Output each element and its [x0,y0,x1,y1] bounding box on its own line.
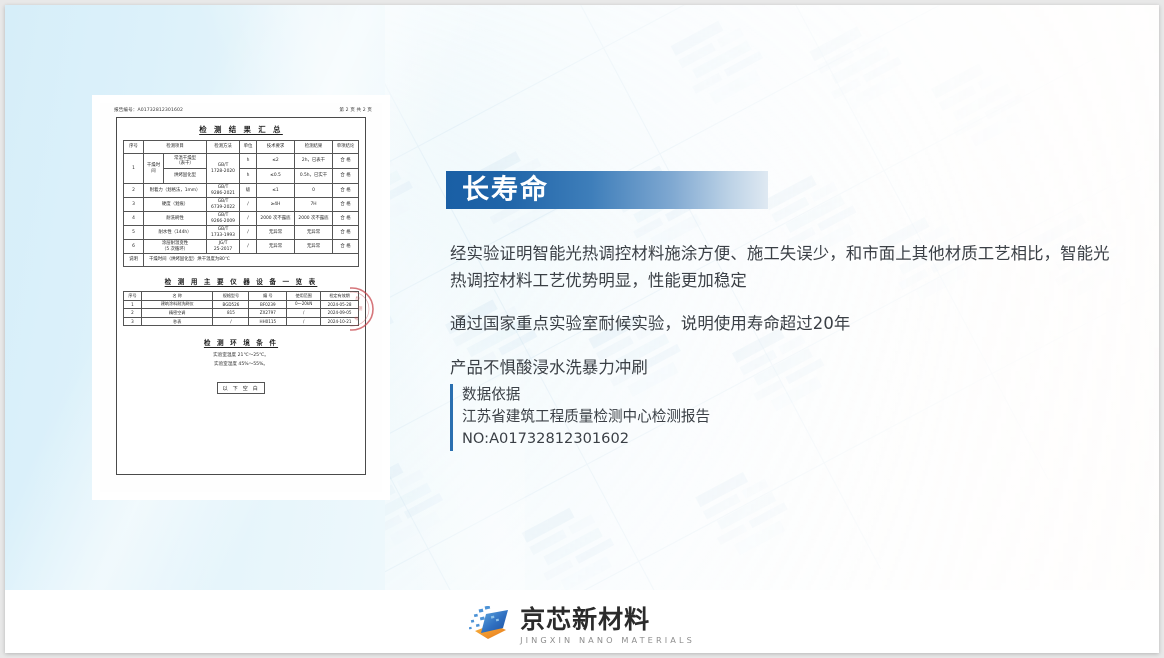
cell-method: GB/T9286-2021 [207,184,240,198]
brand-logo: 京芯新材料 JINGXIN NANO MATERIALS [5,597,1159,653]
col-result: 检测结果 [295,141,333,154]
slide: 报告编号：A01732812301602 第 2 页 共 2 页 检 测 结 果… [5,5,1159,653]
cell-unit: / [240,212,257,226]
eq-cell-model: / [213,317,249,326]
cell-req: ≤0.5 [257,169,295,184]
cell-req: 无异常 [257,226,295,240]
eq-cell-no: 3 [124,317,142,326]
cell-item: 耐洗刷性 [144,212,207,226]
equipment-table-title: 检 测 用 主 要 仪 器 设 备 一 览 表 [117,267,365,291]
certificate-page-no: 第 2 页 共 2 页 [339,107,372,113]
table-row: 6 涂层耐温变性（5 次循环） JG/T25-2017 / 无异常 无异常 合 … [124,240,359,254]
cell-unit: 级 [240,184,257,198]
results-table-title: 检 测 结 果 汇 总 [117,118,365,140]
certificate-report-no: 报告编号：A01732812301602 [114,107,183,113]
cell-result: 2000 次不露底 [295,212,333,226]
eq-cell-range: / [287,309,321,318]
cell-req: ≤2 [257,154,295,169]
cell-item: 耐水性（144h） [144,226,207,240]
table-row: 1 建筑涂料耐洗刷仪 BGD526 BF0239 0～20kN 2024-05-… [124,300,359,309]
eq-cell-name: 建筑涂料耐洗刷仪 [141,300,213,309]
col-no: 序号 [124,141,144,154]
col-item: 检测项目 [144,141,207,154]
blank-below-note: 以 下 空 白 [217,382,265,394]
certificate-header: 报告编号：A01732812301602 第 2 页 共 2 页 [114,107,372,113]
cell-conclusion: 合 格 [333,226,359,240]
cell-method: GB/T1728-2020 [207,154,240,184]
col-req: 技术要求 [257,141,295,154]
eq-cell-no: 1 [124,300,142,309]
col-conclusion: 单项结论 [333,141,359,154]
cell-method: JG/T25-2017 [207,240,240,254]
cell-method: GB/T9266-2009 [207,212,240,226]
cell-item: 硬度（划痕） [144,198,207,212]
certificate-frame: 检 测 结 果 汇 总 序号 检测项目 检测方法 单位 技术要求 检测结果 单项… [116,117,366,475]
environment-line-temperature: 实验室温度 21℃～25℃。 [117,352,365,360]
eq-cell-range: 0～20kN [287,300,321,309]
table-row: 2 精密空调 815 ZX2797 / 2024-09-05 [124,309,359,318]
cell-no: 4 [124,212,144,226]
table-row: 2 附着力（划格法，1mm） GB/T9286-2021 级 ≤1 0 合 格 [124,184,359,198]
cell-conclusion: 合 格 [333,169,359,184]
note-label: 说明 [124,254,144,267]
cell-unit: / [240,198,257,212]
body-paragraph-1: 经实验证明智能光热调控材料施涂方便、施工失误少，和市面上其他材质工艺相比，智能光… [450,241,1110,294]
cell-no: 6 [124,240,144,254]
cell-unit: h [240,154,257,169]
certificate-page: 报告编号：A01732812301602 第 2 页 共 2 页 检 测 结 果… [100,103,382,492]
table-row: 3 硬度（划痕） GB/T6739-2022 / ≥4H 7H 合 格 [124,198,359,212]
eq-cell-no: 2 [124,309,142,318]
cell-method: GB/T6739-2022 [207,198,240,212]
eq-col-range: 使用范围 [287,292,321,301]
table-row: 4 耐洗刷性 GB/T9266-2009 / 2000 次不露底 2000 次不… [124,212,359,226]
eq-cell-serial: BF0239 [249,300,287,309]
cell-conclusion: 合 格 [333,154,359,169]
cell-unit: / [240,240,257,254]
results-table: 序号 检测项目 检测方法 单位 技术要求 检测结果 单项结论 1 干燥时间 [123,140,359,267]
cell-item: 附着力（划格法，1mm） [144,184,207,198]
environment-title: 检 测 环 境 条 件 [117,326,365,352]
cell-item-sub: 烘烤固化型 [164,169,207,184]
data-source-block: 数据依据 江苏省建筑工程质量检测中心检测报告 NO:A0173281230160… [450,384,710,451]
table-row: 3 秒表 / HH0115 / 2024-10-21 [124,317,359,326]
cell-result: 0 [295,184,333,198]
cell-result: 2h，已表干 [295,154,333,169]
table-note-row: 说明 干燥时间（烘烤固化型）烘干温度为80℃ [124,254,359,267]
cell-conclusion: 合 格 [333,198,359,212]
cell-result: 无异常 [295,240,333,254]
eq-cell-valid: 2024-10-21 [321,317,359,326]
body-copy: 经实验证明智能光热调控材料施涂方便、施工失误少，和市面上其他材质工艺相比，智能光… [450,241,1110,381]
cell-unit: h [240,169,257,184]
brand-name-cn: 京芯新材料 [520,606,695,633]
eq-cell-model: 815 [213,309,249,318]
table-row: 5 耐水性（144h） GB/T1733-1993 / 无异常 无异常 合 格 [124,226,359,240]
results-table-header-row: 序号 检测项目 检测方法 单位 技术要求 检测结果 单项结论 [124,141,359,154]
cell-item: 涂层耐温变性（5 次循环） [144,240,207,254]
cell-conclusion: 合 格 [333,240,359,254]
col-method: 检测方法 [207,141,240,154]
cell-result: 7H [295,198,333,212]
eq-cell-serial: ZX2797 [249,309,287,318]
headline-banner: 长寿命 [446,171,768,209]
data-source-label: 数据依据 [462,384,710,406]
eq-cell-model: BGD526 [213,300,249,309]
body-paragraph-2: 通过国家重点实验室耐候实验，说明使用寿命超过20年 [450,311,1110,338]
eq-cell-valid: 2024-05-28 [321,300,359,309]
cell-req: ≤1 [257,184,295,198]
eq-col-model: 规格型号 [213,292,249,301]
eq-cell-serial: HH0115 [249,317,287,326]
cell-method: GB/T1733-1993 [207,226,240,240]
page-title: 长寿命 [462,177,549,204]
brand-name-en: JINGXIN NANO MATERIALS [520,636,695,644]
cell-no: 5 [124,226,144,240]
cell-item-sub: 常温干燥型（表干） [164,154,207,169]
cell-no: 3 [124,198,144,212]
data-source-report-no: NO:A01732812301602 [462,428,710,450]
eq-cell-name: 秒表 [141,317,213,326]
eq-cell-valid: 2024-09-05 [321,309,359,318]
table-row: 1 干燥时间 常温干燥型（表干） GB/T1728-2020 h ≤2 2h，已… [124,154,359,169]
eq-col-name: 名 称 [141,292,213,301]
environment-conditions: 实验室温度 21℃～25℃。 实验室湿度 45%～55%。 [117,352,365,369]
cell-no: 1 [124,154,144,184]
cell-no: 2 [124,184,144,198]
environment-line-humidity: 实验室湿度 45%～55%。 [117,361,365,369]
cell-req: ≥4H [257,198,295,212]
cell-conclusion: 合 格 [333,212,359,226]
eq-col-no: 序号 [124,292,142,301]
equipment-table-header-row: 序号 名 称 规格型号 编 号 使用范围 检定有效期 [124,292,359,301]
jingxin-logo-icon [469,606,511,644]
eq-cell-name: 精密空调 [141,309,213,318]
cell-result: 0.5h，已实干 [295,169,333,184]
certificate-image[interactable]: 报告编号：A01732812301602 第 2 页 共 2 页 检 测 结 果… [92,95,390,500]
note-text: 干燥时间（烘烤固化型）烘干温度为80℃ [144,254,359,267]
eq-col-serial: 编 号 [249,292,287,301]
cell-unit: / [240,226,257,240]
body-paragraph-3: 产品不惧酸浸水洗暴力冲刷 [450,355,1110,382]
cell-req: 无异常 [257,240,295,254]
equipment-table: 序号 名 称 规格型号 编 号 使用范围 检定有效期 1 建筑涂料耐洗刷仪 [123,291,359,326]
eq-cell-range: / [287,317,321,326]
cell-conclusion: 合 格 [333,184,359,198]
brand-text: 京芯新材料 JINGXIN NANO MATERIALS [520,606,695,644]
cell-result: 无异常 [295,226,333,240]
eq-col-valid: 检定有效期 [321,292,359,301]
cell-req: 2000 次不露底 [257,212,295,226]
cell-item-group: 干燥时间 [144,154,164,184]
data-source-org: 江苏省建筑工程质量检测中心检测报告 [462,406,710,428]
col-unit: 单位 [240,141,257,154]
